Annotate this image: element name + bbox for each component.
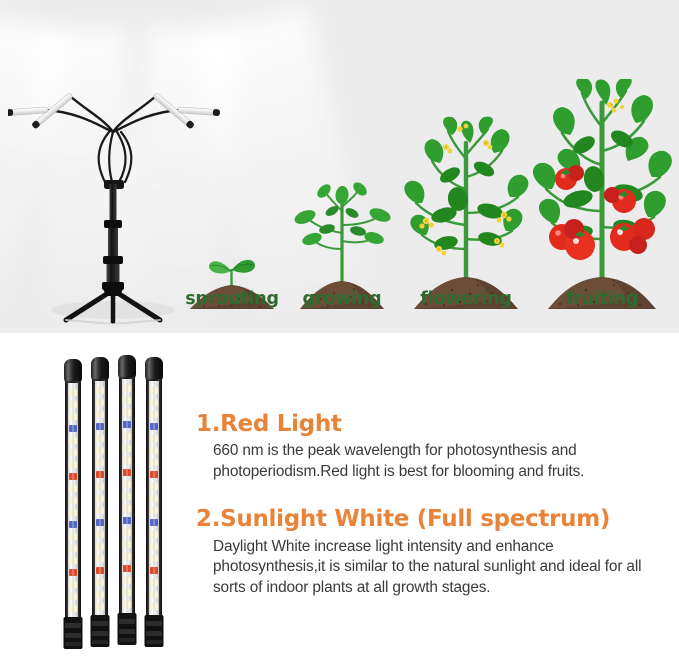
spectrum-text-column: 1.Red Light 660 nm is the peak wavelengt… <box>196 411 658 598</box>
stage-illustration-fruiting <box>528 79 676 311</box>
stage-illustration-flowering <box>400 115 532 311</box>
stage-label-flowering: flowering <box>400 289 532 309</box>
section-1-heading: 1.Red Light <box>196 411 658 437</box>
bottom-panel-light-spectrum: 1.Red Light 660 nm is the peak wavelengt… <box>0 333 679 667</box>
led-bar-4 <box>145 357 164 647</box>
led-bar-1 <box>64 359 83 649</box>
product-infographic: sprouting <box>0 0 679 667</box>
fruiting-svg <box>528 79 676 311</box>
top-panel-growth-stages: sprouting <box>0 0 679 333</box>
led-bar-3 <box>118 355 137 645</box>
flowering-svg <box>400 115 532 311</box>
led-bars-svg <box>60 355 185 655</box>
spectrum-section-sunlight-white: 2.Sunlight White (Full spectrum) Dayligh… <box>196 506 658 598</box>
led-bar-2 <box>91 357 110 647</box>
section-2-body: Daylight White increase light intensity … <box>213 537 658 598</box>
stage-label-sprouting: sprouting <box>182 289 282 309</box>
growth-stage-scene: sprouting <box>0 0 679 333</box>
section-2-heading: 2.Sunlight White (Full spectrum) <box>196 506 658 532</box>
led-bars-illustration <box>60 355 185 655</box>
stage-label-growing: growing <box>288 289 396 309</box>
spectrum-section-red-light: 1.Red Light 660 nm is the peak wavelengt… <box>196 411 658 482</box>
stage-label-fruiting: fruiting <box>528 289 676 309</box>
section-1-body: 660 nm is the peak wavelength for photos… <box>213 441 658 482</box>
